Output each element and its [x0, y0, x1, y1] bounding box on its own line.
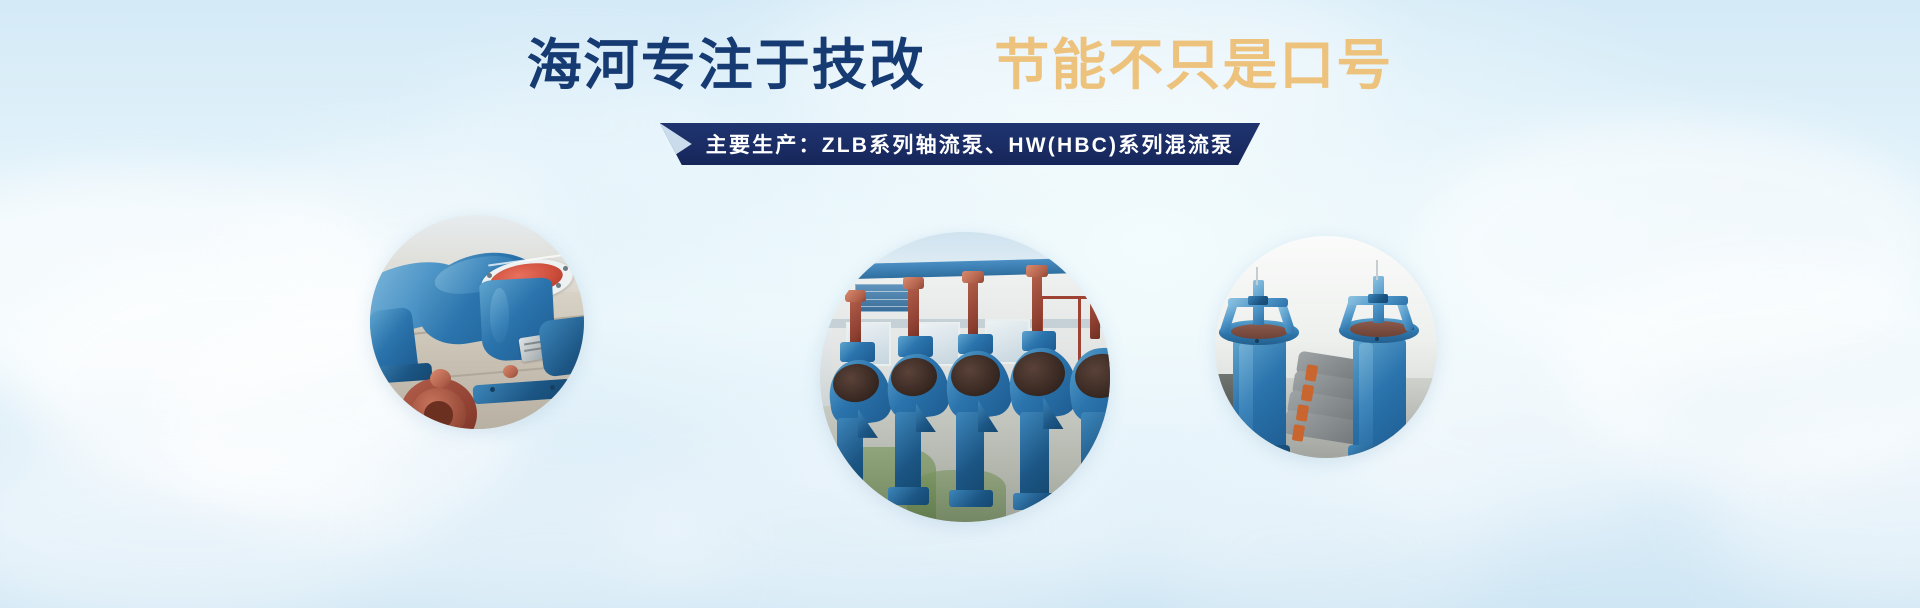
- pulley-hub: [424, 401, 454, 429]
- pump-drive-shaft: [1090, 270, 1100, 340]
- shaft-collar: [1248, 296, 1268, 305]
- pump-drive-shaft: [968, 278, 978, 342]
- ribbon-label: 主要生产：ZLB系列轴流泵、HW(HBC)系列混流泵: [706, 129, 1235, 159]
- product-shot-mixed-flow-pump-closeup: [370, 215, 584, 429]
- shot-3-scene: [1215, 236, 1437, 458]
- pump-base-plate: [1013, 493, 1057, 510]
- column-highlight: [1239, 343, 1252, 454]
- cloud-shape: [1700, 400, 1920, 600]
- pump-base-plate: [949, 490, 993, 507]
- pump-column: [1081, 412, 1110, 505]
- vent-louver: [855, 306, 910, 307]
- banner-headline: 海河专注于技改 节能不只是口号: [0, 38, 1920, 93]
- gantry-beam: [1040, 296, 1086, 299]
- shaft-cap: [962, 271, 984, 283]
- shaft-cap: [845, 290, 867, 302]
- pump-drive-shaft: [850, 296, 860, 348]
- headline-primary: 海河专注于技改: [527, 34, 926, 96]
- pipe-coupling: [1300, 384, 1313, 401]
- shaft-cap: [1026, 265, 1048, 277]
- pump-base-plate: [888, 487, 929, 504]
- ribbon-arrow-notch-icon: [660, 123, 700, 165]
- cloud-shape: [1560, 260, 1920, 490]
- product-shot-axial-flow-pump-row: [820, 232, 1110, 522]
- flange-bolt: [1375, 337, 1379, 341]
- shaft-tip: [1256, 267, 1258, 285]
- cloud-shape: [0, 430, 420, 608]
- right-pump-bottom-flange: [1348, 445, 1410, 458]
- product-ribbon-wrapper: 主要生产：ZLB系列轴流泵、HW(HBC)系列混流泵: [0, 123, 1920, 165]
- product-shot-submersible-pump-pair: [1215, 236, 1437, 458]
- anchor-bolt: [550, 385, 555, 390]
- drain-plug: [503, 365, 518, 378]
- left-pump-bottom-flange: [1228, 445, 1290, 458]
- shot-2-scene: [820, 232, 1110, 522]
- cloud-shape: [1140, 460, 1500, 608]
- cloud-shape: [380, 470, 720, 608]
- bearing-housing: [538, 314, 584, 377]
- right-pump-seal-face: [1350, 321, 1408, 337]
- column-highlight: [1359, 343, 1372, 454]
- flange-bolt: [487, 273, 492, 278]
- pump-drive-shaft: [908, 284, 918, 342]
- pump-base-plate: [830, 487, 871, 504]
- shaft-cap: [903, 277, 925, 289]
- pipe-coupling: [1292, 424, 1305, 441]
- pump-drive-shaft: [1032, 273, 1042, 340]
- headline-secondary: 节能不只是口号: [994, 34, 1393, 96]
- shaft-collar: [1368, 294, 1388, 303]
- promo-banner: 海河专注于技改 节能不只是口号 主要生产：ZLB系列轴流泵、HW(HBC)系列混…: [0, 0, 1920, 608]
- product-ribbon: 主要生产：ZLB系列轴流泵、HW(HBC)系列混流泵: [660, 123, 1261, 165]
- shot-1-scene: [370, 215, 584, 429]
- cloud-shape: [0, 170, 400, 400]
- casing-highlight: [490, 288, 509, 344]
- shaft-tip: [1376, 260, 1378, 280]
